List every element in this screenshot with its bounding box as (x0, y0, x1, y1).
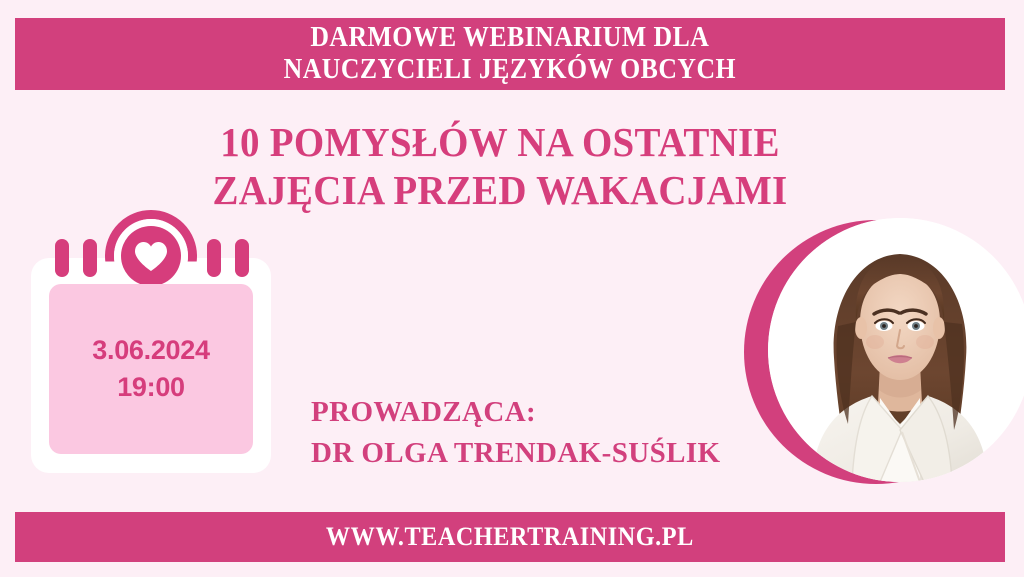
presenter-block: PROWADZĄCA: DR OLGA TRENDAK-SUŚLIK (311, 392, 721, 474)
header-banner: DARMOWE WEBINARIUM DLA NAUCZYCIELI JĘZYK… (15, 18, 1005, 90)
calendar-ring-bar-4 (235, 239, 249, 277)
portrait-photo (768, 218, 1024, 482)
calendar-date: 3.06.2024 (92, 335, 209, 366)
presenter-name: DR OLGA TRENDAK-SUŚLIK (311, 433, 721, 474)
calendar-date-panel: 3.06.2024 19:00 (49, 284, 253, 454)
banner-line-2: NAUCZYCIELI JĘZYKÓW OBCYCH (284, 54, 736, 86)
calendar-ring-bar-3 (207, 239, 221, 277)
presenter-label: PROWADZĄCA: (311, 392, 721, 433)
footer-website[interactable]: WWW.TEACHERTRAINING.PL (326, 522, 694, 552)
webinar-poster: DARMOWE WEBINARIUM DLA NAUCZYCIELI JĘZYK… (0, 0, 1024, 577)
calendar-heart-icon: 3.06.2024 19:00 (31, 258, 271, 473)
footer-bar: WWW.TEACHERTRAINING.PL (15, 512, 1005, 562)
main-title-line-1: 10 POMYSŁÓW NA OSTATNIE (25, 118, 975, 166)
heart-icon (121, 226, 181, 286)
calendar-ring-bar-2 (83, 239, 97, 277)
calendar-ring-bar-1 (55, 239, 69, 277)
main-title: 10 POMYSŁÓW NA OSTATNIE ZAJĘCIA PRZED WA… (0, 118, 1000, 215)
calendar-time: 19:00 (117, 372, 185, 403)
main-title-line-2: ZAJĘCIA PRZED WAKACJAMI (25, 166, 975, 214)
presenter-portrait (744, 218, 1024, 518)
banner-line-1: DARMOWE WEBINARIUM DLA (311, 22, 710, 54)
